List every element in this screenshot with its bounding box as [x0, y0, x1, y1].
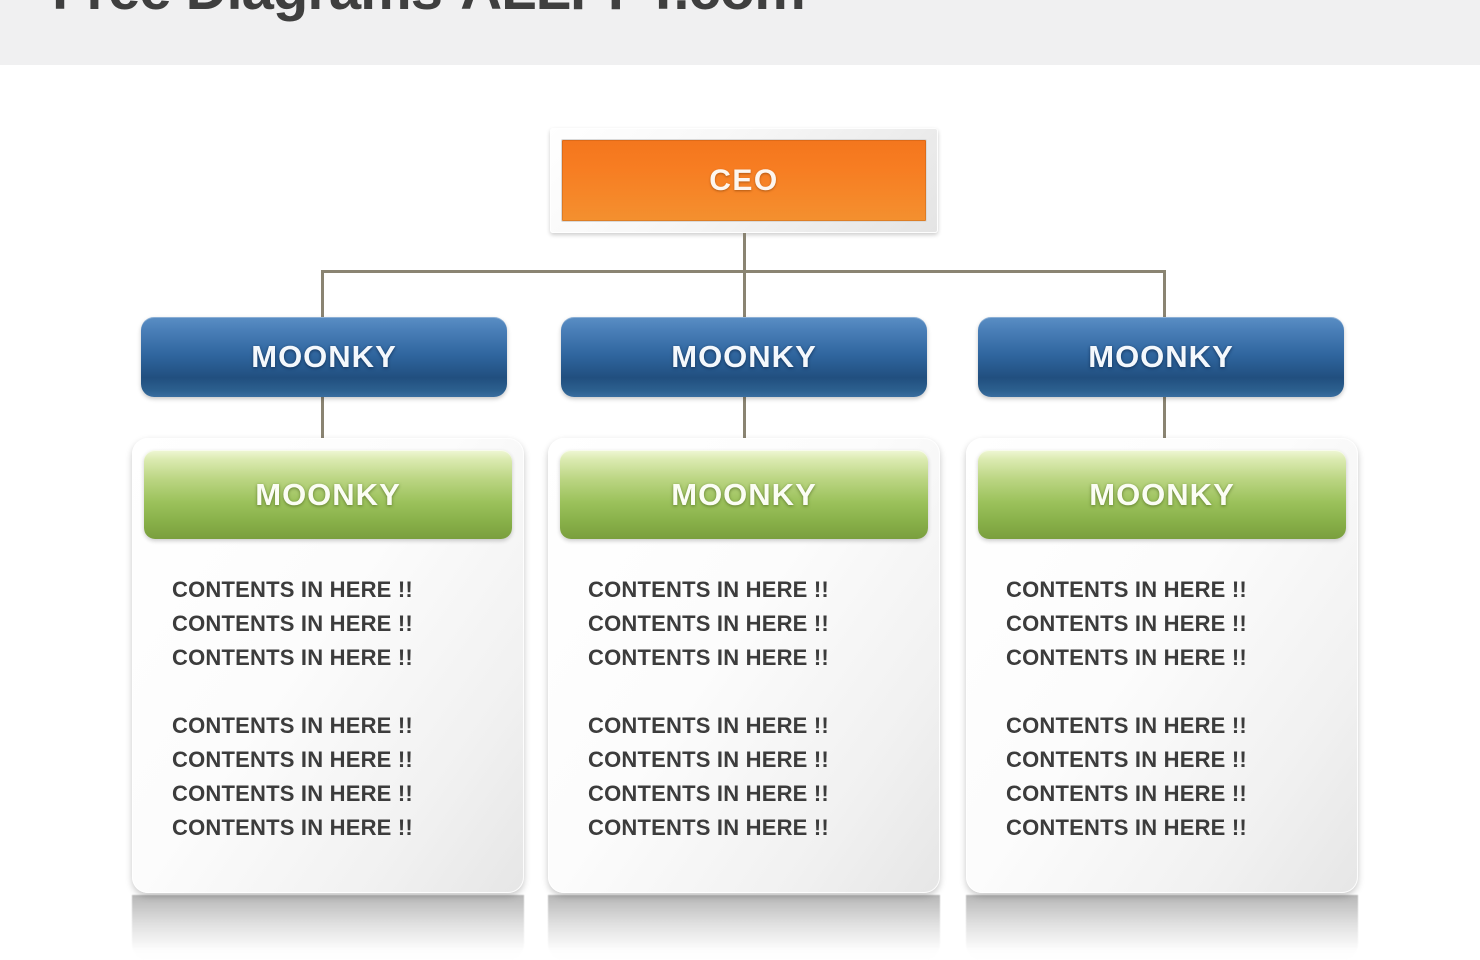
content-line: CONTENTS IN HERE !! — [588, 641, 928, 675]
org-node-branch-1[interactable]: MOONKY — [141, 317, 507, 397]
header-watermark-band: Free Diagrams-ALLPPT.com — [0, 0, 1480, 65]
card-reflection-3 — [966, 895, 1358, 960]
card-3-body: CONTENTS IN HERE !! CONTENTS IN HERE !! … — [978, 573, 1346, 845]
content-line: CONTENTS IN HERE !! — [1006, 607, 1346, 641]
org-card-2[interactable]: MOONKY CONTENTS IN HERE !! CONTENTS IN H… — [548, 438, 940, 893]
content-line: CONTENTS IN HERE !! — [172, 811, 512, 845]
content-line: CONTENTS IN HERE !! — [172, 743, 512, 777]
leaf-1-label: MOONKY — [255, 477, 401, 513]
ceo-node-fill: CEO — [562, 140, 926, 221]
org-card-3[interactable]: MOONKY CONTENTS IN HERE !! CONTENTS IN H… — [966, 438, 1358, 893]
content-line: CONTENTS IN HERE !! — [1006, 743, 1346, 777]
org-node-branch-3[interactable]: MOONKY — [978, 317, 1344, 397]
content-spacer — [588, 675, 928, 709]
connector-drop-col-3 — [1163, 270, 1166, 320]
content-line: CONTENTS IN HERE !! — [588, 607, 928, 641]
content-line: CONTENTS IN HERE !! — [172, 573, 512, 607]
connector-branch-to-leaf-1 — [321, 395, 324, 441]
card-reflection-2 — [548, 895, 940, 960]
leaf-2-label: MOONKY — [671, 477, 817, 513]
card-1-body: CONTENTS IN HERE !! CONTENTS IN HERE !! … — [144, 573, 512, 845]
org-card-1[interactable]: MOONKY CONTENTS IN HERE !! CONTENTS IN H… — [132, 438, 524, 893]
org-node-ceo[interactable]: CEO — [550, 128, 938, 233]
content-line: CONTENTS IN HERE !! — [1006, 573, 1346, 607]
content-line: CONTENTS IN HERE !! — [172, 777, 512, 811]
connector-ceo-stem — [743, 233, 746, 272]
content-line: CONTENTS IN HERE !! — [172, 607, 512, 641]
content-line: CONTENTS IN HERE !! — [588, 811, 928, 845]
branch-2-label: MOONKY — [671, 339, 817, 375]
page-title: Free Diagrams-ALLPPT.com — [52, 0, 805, 23]
card-2-body: CONTENTS IN HERE !! CONTENTS IN HERE !! … — [560, 573, 928, 845]
content-spacer — [1006, 675, 1346, 709]
branch-1-label: MOONKY — [251, 339, 397, 375]
content-line: CONTENTS IN HERE !! — [172, 709, 512, 743]
content-line: CONTENTS IN HERE !! — [1006, 811, 1346, 845]
content-line: CONTENTS IN HERE !! — [588, 709, 928, 743]
org-chart-diagram: CEO MOONKY MOONKY CONTENTS IN HERE !! CO… — [0, 65, 1480, 960]
content-line: CONTENTS IN HERE !! — [1006, 641, 1346, 675]
content-line: CONTENTS IN HERE !! — [172, 641, 512, 675]
card-reflection-1 — [132, 895, 524, 960]
org-node-leaf-1[interactable]: MOONKY — [144, 450, 512, 539]
branch-3-label: MOONKY — [1088, 339, 1234, 375]
connector-drop-col-2 — [743, 270, 746, 320]
connector-branch-to-leaf-3 — [1163, 395, 1166, 441]
content-line: CONTENTS IN HERE !! — [1006, 777, 1346, 811]
content-line: CONTENTS IN HERE !! — [1006, 709, 1346, 743]
connector-drop-col-1 — [321, 270, 324, 320]
content-spacer — [172, 675, 512, 709]
org-node-leaf-2[interactable]: MOONKY — [560, 450, 928, 539]
content-line: CONTENTS IN HERE !! — [588, 573, 928, 607]
content-line: CONTENTS IN HERE !! — [588, 777, 928, 811]
org-node-leaf-3[interactable]: MOONKY — [978, 450, 1346, 539]
content-line: CONTENTS IN HERE !! — [588, 743, 928, 777]
org-node-branch-2[interactable]: MOONKY — [561, 317, 927, 397]
leaf-3-label: MOONKY — [1089, 477, 1235, 513]
connector-branch-to-leaf-2 — [743, 395, 746, 441]
ceo-node-label: CEO — [709, 164, 779, 198]
